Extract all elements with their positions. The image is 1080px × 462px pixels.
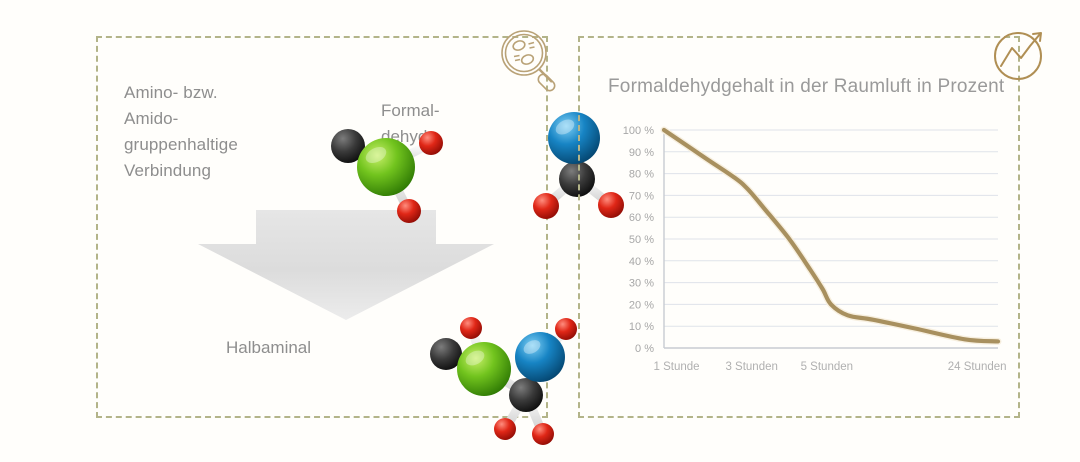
y-axis-tick-label: 10 %: [629, 321, 654, 333]
y-axis-tick-label: 70 %: [629, 190, 654, 202]
y-axis-tick-label: 80 %: [629, 169, 654, 181]
reactant-label: Amino- bzw. Amido- gruppenhaltige Verbin…: [124, 80, 314, 184]
y-axis-tick-label: 60 %: [629, 212, 654, 224]
magnifier-germ-icon: [494, 24, 566, 96]
x-axis-tick-label: 3 Stunden: [725, 361, 777, 373]
chart-gridlines: [664, 130, 998, 326]
reactant-label-line-4: Verbindung: [124, 158, 314, 184]
y-axis-tick-label: 90 %: [629, 147, 654, 159]
x-axis-tick-label: 24 Stunden: [948, 361, 1007, 373]
y-axis-tick-label: 40 %: [629, 256, 654, 268]
y-axis-tick-label: 50 %: [629, 234, 654, 246]
chart-series-line: [664, 130, 998, 341]
reactant-label-line-1: Amino- bzw.: [124, 80, 314, 106]
product-label: Halbaminal: [226, 338, 311, 358]
y-axis-tick-label: 100 %: [623, 125, 654, 137]
amino-amido-group-molecule: [320, 114, 460, 234]
reactant-label-line-3: gruppenhaltige: [124, 132, 314, 158]
chart-x-axis-labels: 1 Stunde3 Stunden5 Stunden24 Stunden: [654, 361, 1007, 373]
y-axis-tick-label: 30 %: [629, 278, 654, 290]
halbaminal-molecule: [414, 306, 604, 450]
x-axis-tick-label: 1 Stunde: [654, 361, 700, 373]
screenshot-canvas: Amino- bzw. Amido- gruppenhaltige Verbin…: [0, 0, 1080, 462]
chart-y-axis-labels: 100 %90 %80 %70 %60 %50 %40 %30 %20 %10 …: [623, 125, 654, 355]
chart-panel: Formaldehydgehalt in der Raumluft in Pro…: [578, 36, 1020, 418]
y-axis-tick-label: 20 %: [629, 299, 654, 311]
trend-chart-circle-icon: [986, 22, 1054, 90]
chart-svg: 100 %90 %80 %70 %60 %50 %40 %30 %20 %10 …: [598, 120, 1008, 390]
chart-title: Formaldehydgehalt in der Raumluft in Pro…: [608, 76, 1004, 98]
x-axis-tick-label: 5 Stunden: [801, 361, 853, 373]
reactant-label-line-2: Amido-: [124, 106, 314, 132]
reaction-diagram-panel: Amino- bzw. Amido- gruppenhaltige Verbin…: [96, 36, 548, 418]
line-chart: 100 %90 %80 %70 %60 %50 %40 %30 %20 %10 …: [598, 120, 1008, 390]
y-axis-tick-label: 0 %: [635, 343, 654, 355]
